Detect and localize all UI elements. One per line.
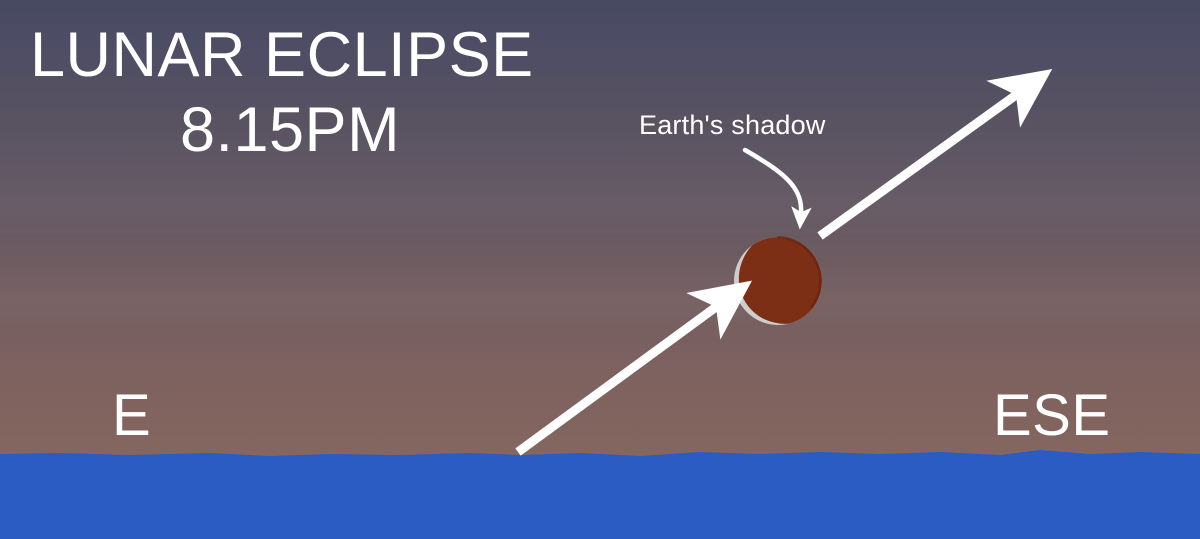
earths-shadow-label: Earth's shadow xyxy=(639,110,826,141)
compass-label-east-southeast: ESE xyxy=(993,382,1111,449)
compass-label-east: E xyxy=(112,382,151,449)
moon-umbra-region xyxy=(733,236,823,326)
event-title-line1: LUNAR ECLIPSE xyxy=(30,24,534,87)
moon-svg xyxy=(733,236,823,326)
event-time-line2: 8.15PM xyxy=(30,99,550,162)
moon-graphic[interactable] xyxy=(733,236,823,326)
water-horizon xyxy=(0,444,1200,539)
sky-chart-viewport[interactable]: LUNAR ECLIPSE 8.15PM Earth's shadow E ES… xyxy=(0,0,1200,539)
water-surface xyxy=(0,450,1200,539)
